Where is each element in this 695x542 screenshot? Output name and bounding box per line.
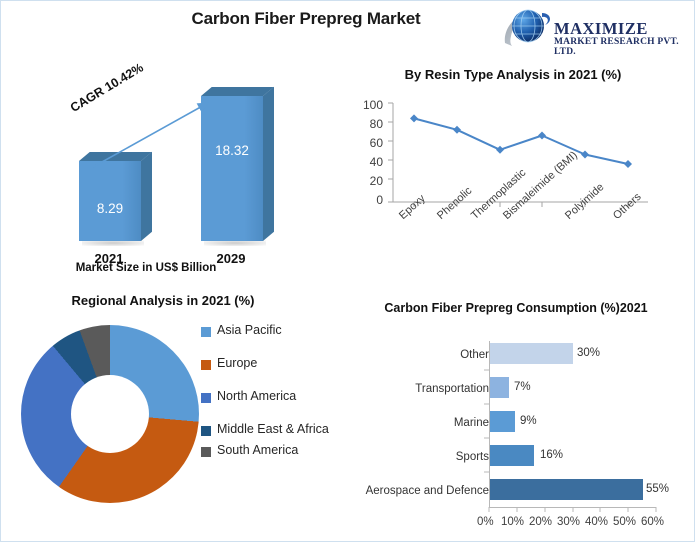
legend-swatch-middle-east-africa <box>201 426 211 436</box>
donut-chart-title: Regional Analysis in 2021 (%) <box>13 293 313 308</box>
regional-analysis-donut-chart: Regional Analysis in 2021 (%) Asia Pacif… <box>13 293 338 538</box>
bar-front-face <box>201 96 263 241</box>
market-size-caption: Market Size in US$ Billion <box>21 262 271 274</box>
donut-legend: Asia Pacific Europe North America Middle… <box>201 323 341 476</box>
hbar-xtick-40: 40% <box>585 516 608 528</box>
line-data-markers <box>410 114 632 168</box>
legend-item-north-america: North America <box>201 389 341 404</box>
page-title: Carbon Fiber Prepreg Market <box>141 9 471 29</box>
cagr-arrow <box>21 79 331 284</box>
consumption-bar-chart: Carbon Fiber Prepreg Consumption (%)2021… <box>341 297 691 540</box>
legend-item-middle-east-africa: Middle East & Africa <box>201 422 341 437</box>
legend-item-europe: Europe <box>201 356 341 371</box>
globe-icon <box>501 5 559 53</box>
resin-type-line-chart: By Resin Type Analysis in 2021 (%) 100 8… <box>353 67 688 292</box>
company-logo: MAXIMIZE MARKET RESEARCH PVT. LTD. <box>501 5 691 55</box>
legend-item-south-america: South America <box>201 443 341 458</box>
legend-swatch-north-america <box>201 393 211 403</box>
bar-side-face <box>141 152 152 241</box>
donut-hole <box>71 375 149 453</box>
bar-top-face <box>79 152 152 161</box>
legend-swatch-europe <box>201 360 211 370</box>
legend-label-asia-pacific: Asia Pacific <box>217 323 282 338</box>
legend-swatch-south-america <box>201 447 211 457</box>
bar-2029: 18.32 <box>201 96 263 241</box>
legend-label-europe: Europe <box>217 356 257 371</box>
hbar-xtick-10: 10% <box>501 516 524 528</box>
legend-swatch-asia-pacific <box>201 327 211 337</box>
market-size-bar-chart: 8.29 18.32 CAGR 10.42% 2021 2029 Market … <box>21 79 331 284</box>
bar-value-2029: 18.32 <box>201 143 263 158</box>
legend-label-north-america: North America <box>217 389 296 404</box>
hbar-xtick-50: 50% <box>613 516 636 528</box>
hbar-xtick-0: 0% <box>477 516 494 528</box>
bar-top-face <box>201 87 274 96</box>
logo-tagline: MARKET RESEARCH PVT. LTD. <box>554 37 691 57</box>
legend-label-south-america: South America <box>217 443 298 458</box>
donut-chart-graphic <box>21 325 199 503</box>
hbar-xtick-20: 20% <box>529 516 552 528</box>
bar-value-2021: 8.29 <box>79 201 141 216</box>
hbar-tick-marks <box>341 297 691 540</box>
logo-company-name: MAXIMIZE <box>554 19 691 39</box>
infographic-canvas: Carbon Fiber Prepreg Market <box>0 0 695 542</box>
legend-label-middle-east-africa: Middle East & Africa <box>217 422 329 437</box>
cagr-annotation: CAGR 10.42% <box>68 60 146 115</box>
hbar-xtick-60: 60% <box>641 516 664 528</box>
hbar-xtick-30: 30% <box>557 516 580 528</box>
bar-2021: 8.29 <box>79 161 141 241</box>
legend-item-asia-pacific: Asia Pacific <box>201 323 341 338</box>
bar-side-face <box>263 87 274 241</box>
